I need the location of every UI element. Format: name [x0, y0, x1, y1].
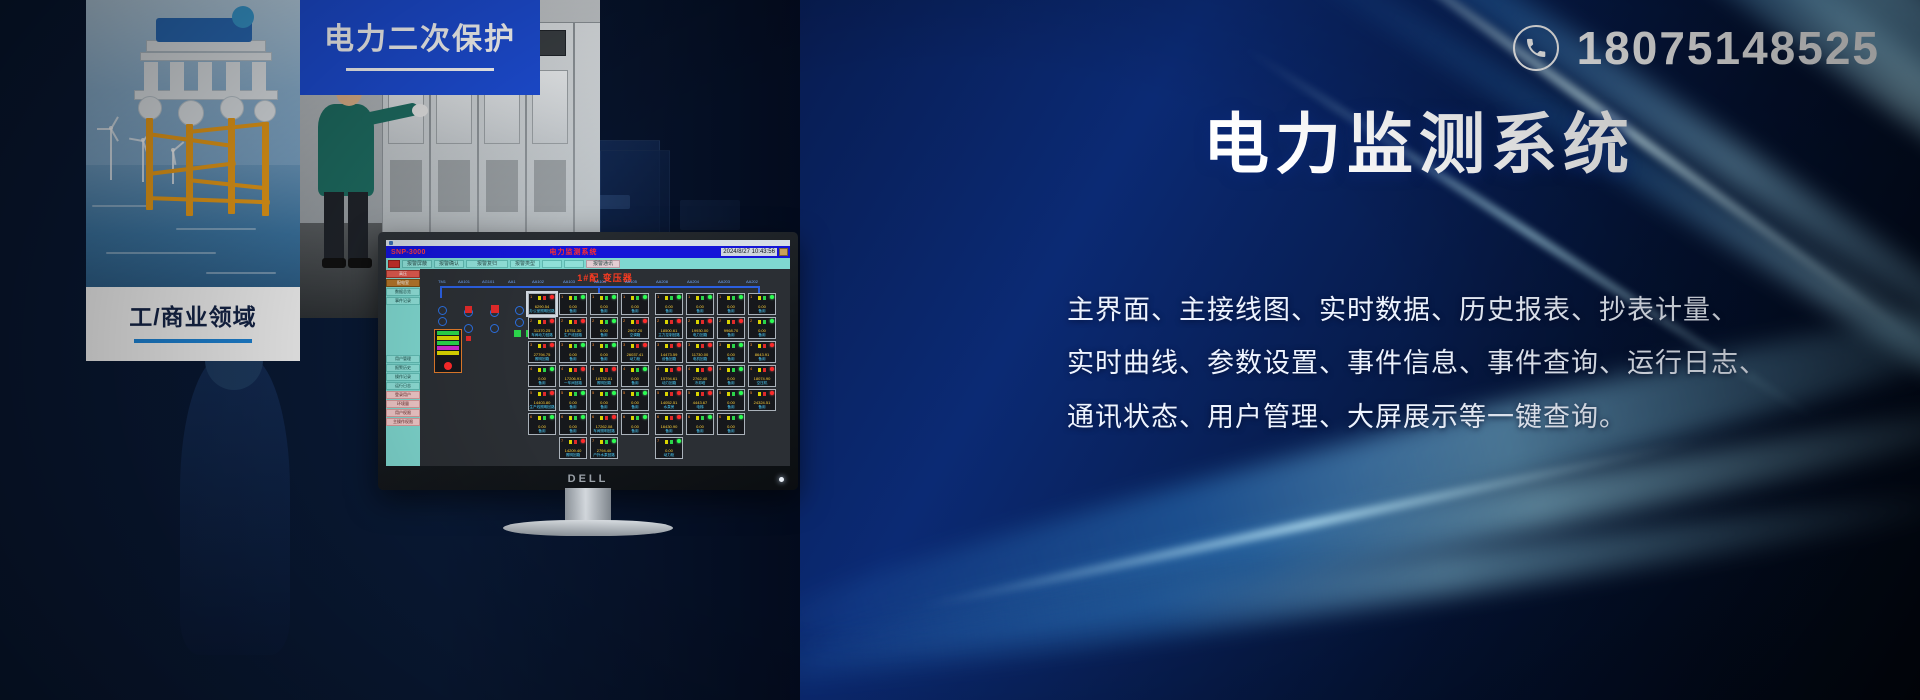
promo-banner: 电力二次保护 工/商业领域 SNP-3000 电力监测系统 2024/8/27 … — [0, 0, 1920, 700]
vignette-overlay — [0, 0, 1920, 700]
